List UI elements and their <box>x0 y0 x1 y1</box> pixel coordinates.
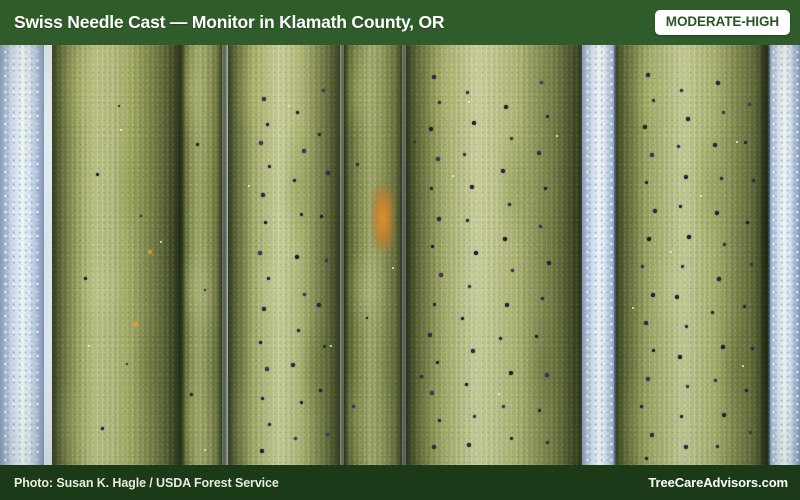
footer-bar: Photo: Susan K. Hagle / USDA Forest Serv… <box>0 465 800 500</box>
pseudothecium-dot <box>414 141 416 143</box>
highlight-speck <box>556 135 558 137</box>
pseudothecium-dot <box>366 317 368 319</box>
highlight-speck <box>736 141 738 143</box>
highlight-speck <box>120 129 122 131</box>
highlight-speck <box>604 425 606 427</box>
highlight-speck <box>498 393 500 395</box>
needle-cast-monitor-card: Swiss Needle Cast — Monitor in Klamath C… <box>0 0 800 500</box>
highlight-speck <box>204 449 206 451</box>
header-bar: Swiss Needle Cast — Monitor in Klamath C… <box>0 0 800 45</box>
highlight-speck <box>288 105 290 107</box>
rust-streak <box>372 185 394 251</box>
highlight-speck <box>452 175 454 177</box>
highlight-speck <box>160 241 162 243</box>
rust-speck-1 <box>133 322 138 327</box>
highlight-speck <box>88 345 90 347</box>
status-badge[interactable]: MODERATE-HIGH <box>655 10 790 35</box>
page-title: Swiss Needle Cast — Monitor in Klamath C… <box>14 12 444 33</box>
highlight-speck <box>742 365 744 367</box>
photo-credit: Photo: Susan K. Hagle / USDA Forest Serv… <box>14 476 279 490</box>
highlight-speck <box>632 307 634 309</box>
photo-content-layer <box>0 45 800 465</box>
highlight-speck <box>248 185 250 187</box>
site-attribution[interactable]: TreeCareAdvisors.com <box>648 475 788 490</box>
pseudothecium-dot <box>352 405 355 408</box>
cluster-sparse-mid <box>0 45 800 465</box>
pseudothecium-dot <box>356 163 359 166</box>
highlight-speck <box>700 195 702 197</box>
highlight-speck <box>468 101 470 103</box>
highlight-speck <box>392 267 394 269</box>
needle-photo <box>0 45 800 465</box>
highlight-speck <box>330 345 332 347</box>
highlight-speck <box>670 251 672 253</box>
pseudothecium-dot <box>420 375 423 378</box>
rust-speck-2 <box>148 250 152 254</box>
